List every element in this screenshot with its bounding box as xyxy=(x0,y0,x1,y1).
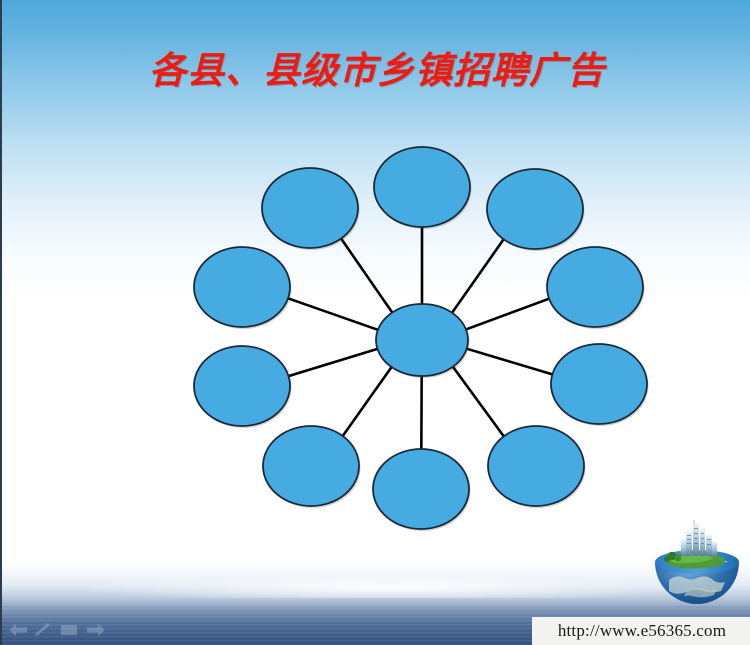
node-ellipse[interactable] xyxy=(551,344,647,424)
node-ellipse[interactable] xyxy=(374,147,470,227)
pen-icon xyxy=(34,623,52,637)
node-ellipse[interactable] xyxy=(263,426,359,506)
diagram-node-4[interactable] xyxy=(551,344,649,426)
node-ellipse[interactable] xyxy=(376,304,468,376)
pen-tool-button[interactable] xyxy=(34,623,52,637)
globe-icon xyxy=(647,518,747,613)
watermark-url-box: http://www.e56365.com xyxy=(532,617,750,645)
watermark-url-text: http://www.e56365.com xyxy=(558,621,726,641)
node-ellipse[interactable] xyxy=(194,247,290,327)
diagram-spoke xyxy=(466,299,549,330)
presentation-slide: 各县、县级市乡镇招聘广告 xyxy=(0,0,750,645)
node-ellipse[interactable] xyxy=(194,346,290,426)
diagram-spoke xyxy=(467,349,553,375)
diagram-node-7[interactable] xyxy=(263,426,361,508)
radial-hub-diagram xyxy=(2,0,750,645)
diagram-node-6[interactable] xyxy=(373,449,471,531)
diagram-node-2[interactable] xyxy=(487,169,585,251)
arrow-right-icon xyxy=(86,623,106,637)
diagram-spoke xyxy=(288,298,378,330)
diagram-node-5[interactable] xyxy=(488,426,586,508)
diagram-center-node[interactable] xyxy=(376,304,470,378)
square-icon xyxy=(60,623,78,637)
node-ellipse[interactable] xyxy=(373,449,469,529)
diagram-spoke xyxy=(453,367,504,437)
next-slide-button[interactable] xyxy=(86,623,106,637)
diagram-spoke xyxy=(341,239,392,313)
node-ellipse[interactable] xyxy=(262,168,358,248)
diagram-spoke xyxy=(289,349,378,376)
node-ellipse[interactable] xyxy=(547,247,643,327)
diagram-node-9[interactable] xyxy=(194,247,292,329)
slide-menu-button[interactable] xyxy=(60,623,78,637)
diagram-node-10[interactable] xyxy=(262,168,360,250)
node-ellipse[interactable] xyxy=(487,169,583,249)
diagram-nodes xyxy=(194,147,649,531)
diagram-spoke xyxy=(452,239,504,312)
arrow-left-icon xyxy=(8,623,28,637)
previous-slide-button[interactable] xyxy=(8,623,28,637)
node-ellipse[interactable] xyxy=(488,426,584,506)
diagram-node-3[interactable] xyxy=(547,247,645,329)
diagram-spoke xyxy=(343,367,392,436)
globe-city-logo xyxy=(647,518,747,613)
diagram-node-8[interactable] xyxy=(194,346,292,428)
diagram-node-1[interactable] xyxy=(374,147,472,229)
